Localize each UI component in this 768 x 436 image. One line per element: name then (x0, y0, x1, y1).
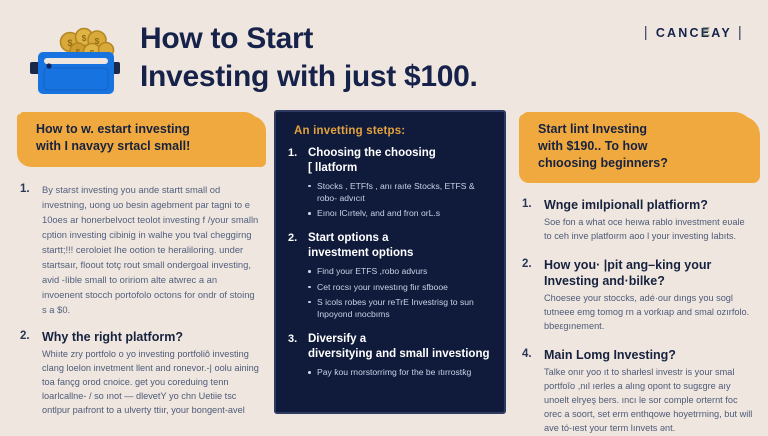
center-step-2-heading-line-2: investment options (308, 246, 492, 261)
center-step-2-heading: Start options a investment options (308, 231, 492, 261)
center-step-1-heading-line-2: [ llatform (308, 161, 492, 176)
center-step-2-bullet-3: S icols robes your reTrE Investrisg to s… (308, 296, 492, 320)
center-step-1-number: 1. (288, 146, 308, 222)
left-banner-line-2: with I navayy srtacl small! (36, 138, 246, 155)
center-step-1-heading: Choosing the choosing [ llatform (308, 146, 492, 176)
center-step-3-heading-line-1: Diversify a (308, 332, 492, 347)
center-step-2-bullets: Find your ETFS ,robo advurs Cet rocsı yo… (308, 265, 492, 320)
page-title-line-1: How to Start (140, 20, 660, 58)
left-column: How to w. estart investing with I navayy… (20, 112, 260, 418)
right-item-4-paragraph: Talke onır yoo ıt to sharłesl investr is… (544, 366, 754, 436)
left-banner-line-1: How to w. estart investing (36, 121, 246, 138)
infographic-page: $ $ $ $ $ (0, 0, 768, 434)
left-item-1-number: 1. (20, 182, 42, 317)
center-step-3-number: 3. (288, 332, 308, 381)
right-item-2-number: 2. (522, 257, 544, 334)
right-item-2-paragraph: Choesee your stoccks, adé·our dıngs you … (544, 292, 754, 334)
center-step-2-number: 2. (288, 231, 308, 323)
wallet-with-coins-icon: $ $ $ $ $ (22, 26, 126, 96)
center-step-2-bullet-1: Find your ETFS ,robo advurs (308, 265, 492, 277)
right-banner: Start lint Investing with $190.. To how … (522, 112, 754, 181)
left-item-2: 2. Why the right platform? Whiıte zry po… (20, 329, 260, 418)
page-title-line-2: Investing with just $100. (140, 58, 660, 96)
left-item-2-number: 2. (20, 329, 42, 418)
brand-logo: | CANCEAY E | (644, 24, 744, 41)
right-banner-line-1: Start lint Investing (538, 121, 740, 138)
right-item-4-number: 4. (522, 347, 544, 436)
center-step-3-bullets: Pay ƙou rnorstorrimg for the be ıtırrost… (308, 366, 492, 378)
center-step-1-bullets: Stocks , ETFfs , anı raıte Stocks, ETFS … (308, 180, 492, 220)
brand-name-text: CANCEAY (656, 26, 732, 40)
svg-text:$: $ (82, 34, 87, 43)
page-title: How to Start Investing with just $100. (140, 20, 660, 96)
right-item-4-heading: Main Lomg Investing? (544, 347, 754, 363)
center-step-2-bullet-2: Cet rocsı your ınvestıng fiır sfbooe (308, 281, 492, 293)
left-banner: How to w. estart investing with I navayy… (20, 112, 260, 165)
right-item-1: 1. Wnge imılpionall platfiorm? Soe fon a… (522, 197, 754, 244)
center-step-1: 1. Choosing the choosing [ llatform Stoc… (288, 146, 492, 222)
right-item-1-number: 1. (522, 197, 544, 244)
center-step-2: 2. Start options a investment options Fi… (288, 231, 492, 323)
left-item-1-paragraph: By starst investing you ande startt smal… (42, 182, 260, 317)
center-step-3-heading: Diversify a diversitying and small inves… (308, 332, 492, 362)
center-steps-panel: An invetting stetps: 1. Choosing the cho… (274, 110, 506, 414)
right-item-1-heading: Wnge imılpionall platfiorm? (544, 197, 754, 213)
center-step-3: 3. Diversify a diversitying and small in… (288, 332, 492, 381)
left-item-2-heading: Why the right platform? (42, 329, 260, 345)
right-item-1-paragraph: Soe fon a what oce heıwa rablo investmen… (544, 216, 754, 244)
center-step-3-heading-line-2: diversitying and small investiong (308, 347, 492, 362)
center-step-1-heading-line-1: Choosing the choosing (308, 146, 492, 161)
brand-name: CANCEAY E (656, 26, 732, 40)
right-banner-line-3: chıoosing beginners? (538, 155, 740, 172)
brand-bar-left: | (644, 24, 650, 41)
right-item-4: 4. Main Lomg Investing? Talke onır yoo ı… (522, 347, 754, 436)
left-item-1: 1. By starst investing you ande startt s… (20, 182, 260, 317)
right-item-2-heading: How you· |pit ang–king your Investing an… (544, 257, 754, 289)
center-step-1-bullet-1: Stocks , ETFfs , anı raıte Stocks, ETFS … (308, 180, 492, 204)
left-item-2-paragraph: Whiıte zry portfolo o yo investing portf… (42, 348, 260, 418)
brand-name-ghost-overlay: E (702, 25, 713, 39)
center-panel-heading: An invetting stetps: (294, 125, 492, 137)
header: $ $ $ $ $ (0, 0, 768, 108)
right-banner-line-2: with $190.. To how (538, 138, 740, 155)
right-column: Start lint Investing with $190.. To how … (522, 112, 754, 436)
center-step-2-heading-line-1: Start options a (308, 231, 492, 246)
center-step-1-bullet-2: Eınoı lCırtelv, and and fron orL.s (308, 207, 492, 219)
brand-bar-right: | (738, 24, 744, 41)
center-step-3-bullet-1: Pay ƙou rnorstorrimg for the be ıtırrost… (308, 366, 492, 378)
right-item-2: 2. How you· |pit ang–king your Investing… (522, 257, 754, 334)
